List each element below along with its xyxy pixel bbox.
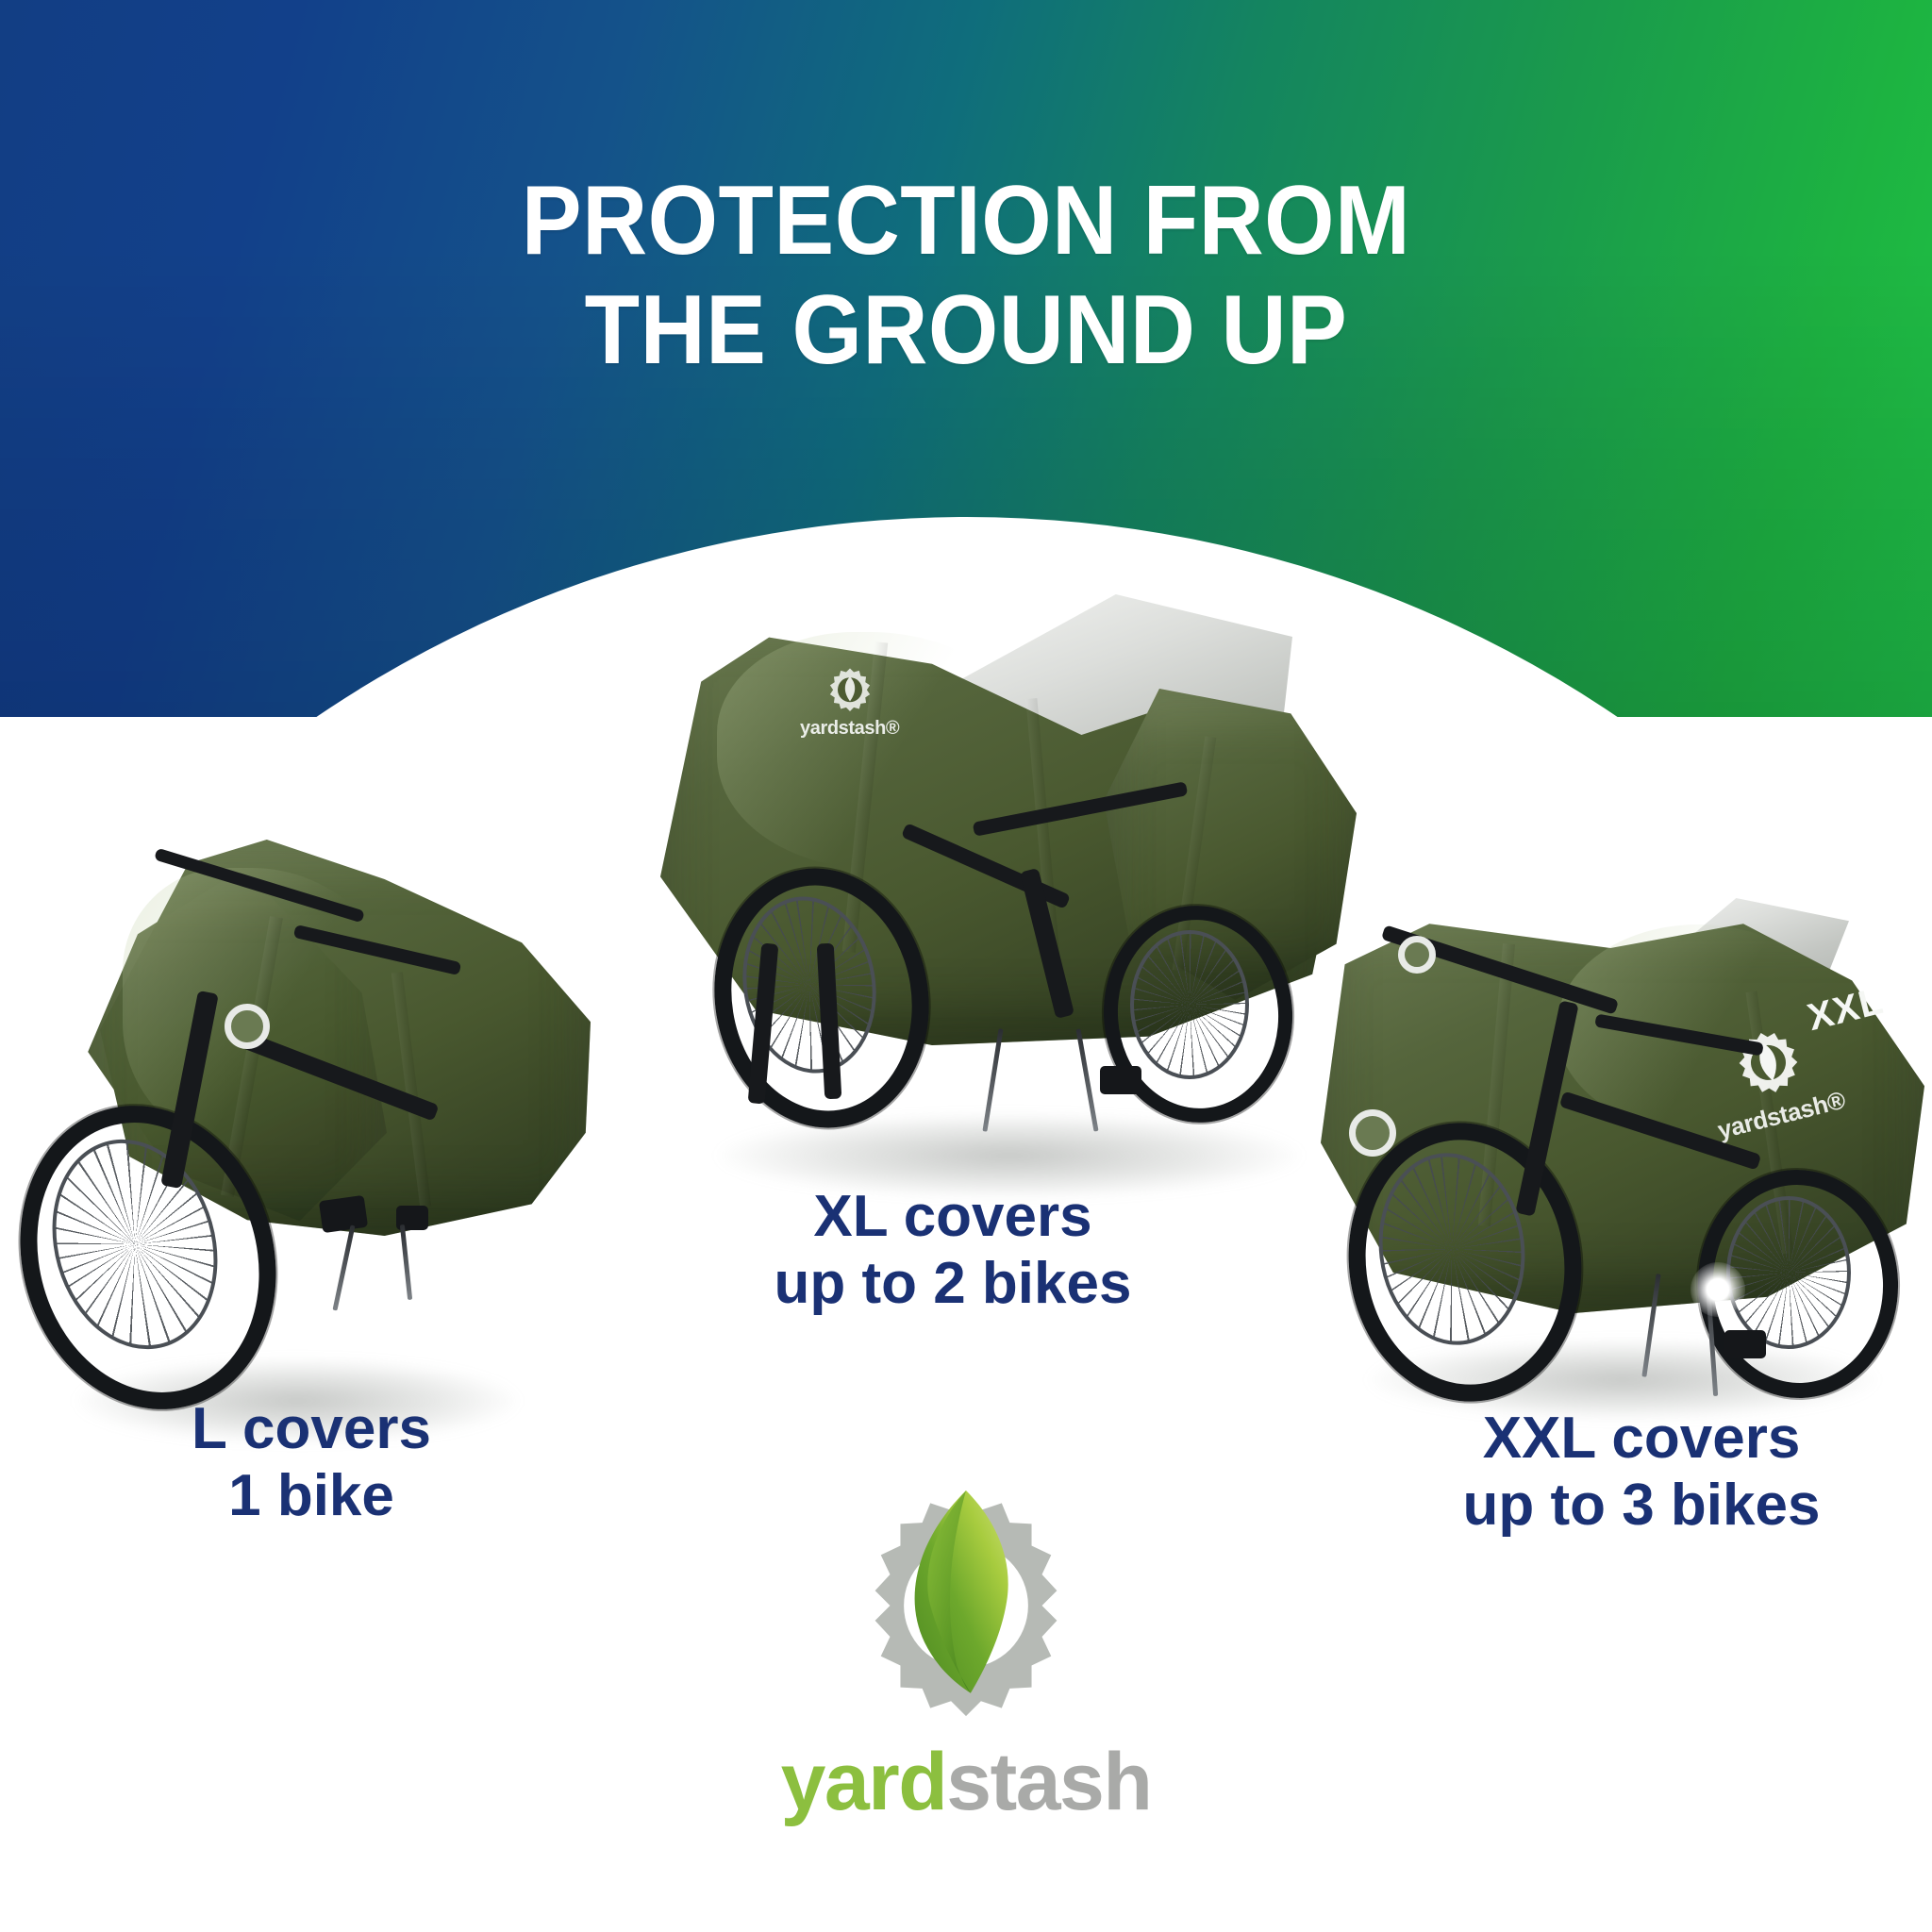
brand-word-yard: yard — [781, 1737, 947, 1827]
cover-logo-stash: stash — [839, 718, 886, 739]
cover-buckle — [1100, 1066, 1141, 1094]
cover-printed-logo: yardstash® — [800, 666, 899, 740]
caption-size-xl: XL covers up to 2 bikes — [623, 1184, 1283, 1317]
page-title: PROTECTION FROM THE GROUND UP — [77, 172, 1855, 379]
cover-grommet — [225, 1004, 270, 1049]
cover-buckle — [1724, 1330, 1766, 1358]
brand-mark — [851, 1491, 1081, 1721]
marketing-banner: PROTECTION FROM THE GROUND UP — [0, 0, 1932, 1932]
bicycle-rim-spokes — [1130, 930, 1249, 1079]
ground-stake — [332, 1224, 355, 1310]
headlight-glow — [1690, 1262, 1745, 1317]
caption-size-xl-line-1: XL covers — [623, 1184, 1283, 1251]
gear-leaf-icon — [825, 666, 874, 715]
product-photo-size-xxl: XXL yardstash® — [1321, 887, 1924, 1434]
headline-line-2: THE GROUND UP — [77, 281, 1855, 379]
caption-size-xxl-line-1: XXL covers — [1377, 1406, 1906, 1473]
cover-buckle — [319, 1195, 368, 1233]
gear-leaf-icon — [851, 1491, 1081, 1721]
product-photo-size-l — [9, 830, 613, 1443]
ground-stake — [400, 1224, 412, 1300]
brand-logo: yardstash — [0, 1491, 1932, 1823]
gear-leaf-icon — [1726, 1022, 1811, 1107]
caption-size-l-line-1: L covers — [47, 1396, 575, 1463]
brand-word-stash: stash — [946, 1737, 1151, 1827]
registered-mark: ® — [886, 718, 899, 739]
bicycle-rim-spokes — [1726, 1196, 1851, 1349]
cover-grommet — [1349, 1109, 1396, 1157]
headline-line-1: PROTECTION FROM — [77, 172, 1855, 270]
brand-wordmark: yardstash — [781, 1741, 1152, 1823]
caption-size-xl-line-2: up to 2 bikes — [623, 1251, 1283, 1318]
cover-logo-yard: yard — [800, 718, 839, 739]
product-photo-size-xl: yardstash® — [660, 585, 1358, 1207]
cover-grommet — [1398, 936, 1436, 974]
